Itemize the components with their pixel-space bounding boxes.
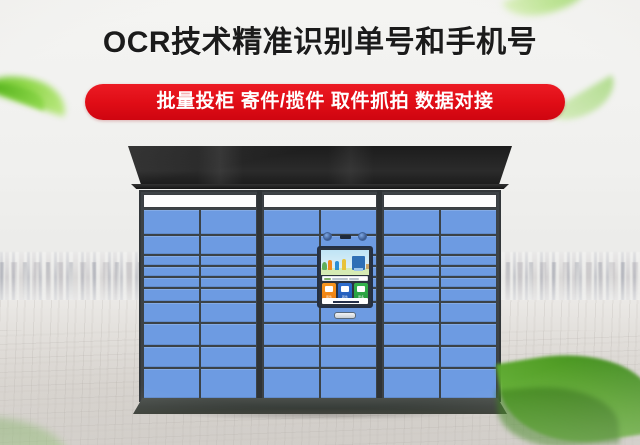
promo-banner-image: 寄件 取件 更多 <box>0 0 640 445</box>
page-title: OCR技术精准识别单号和手机号 <box>0 26 640 60</box>
feature-banner: 批量投柜 寄件/揽件 取件抓拍 数据对接 <box>85 84 565 120</box>
feature-banner-label: 批量投柜 寄件/揽件 取件抓拍 数据对接 <box>156 84 493 120</box>
vignette-overlay <box>0 0 640 445</box>
